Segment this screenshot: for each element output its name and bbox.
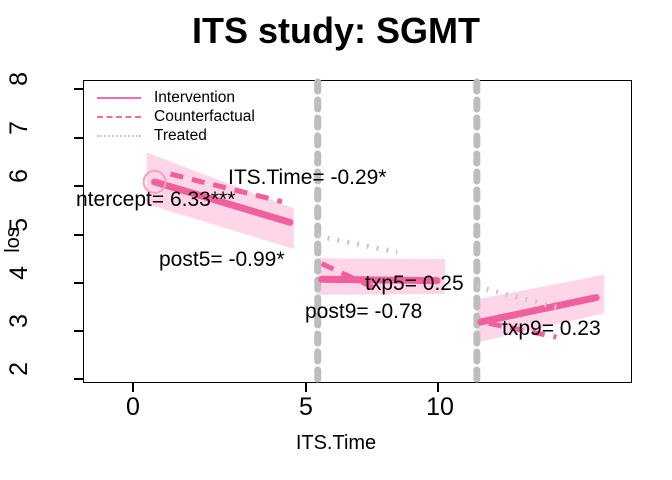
annotation-txp9: txp9= 0.23 xyxy=(502,318,601,339)
series-segment-treated xyxy=(318,236,398,252)
annotation-its-time: ITS.Time= -0.29* xyxy=(228,167,387,188)
its-chart-figure: ITS study: SGMT los ITS.Time 8 7 6 5 4 3… xyxy=(0,0,672,480)
annotation-txp5: txp5= 0.25 xyxy=(365,273,464,294)
annotation-post5: post5= -0.99* xyxy=(159,249,285,270)
annotation-post9: post9= -0.78 xyxy=(305,301,422,322)
plot-data-layer xyxy=(0,0,672,480)
annotation-intercept: ntercept= 6.33*** xyxy=(76,189,235,210)
